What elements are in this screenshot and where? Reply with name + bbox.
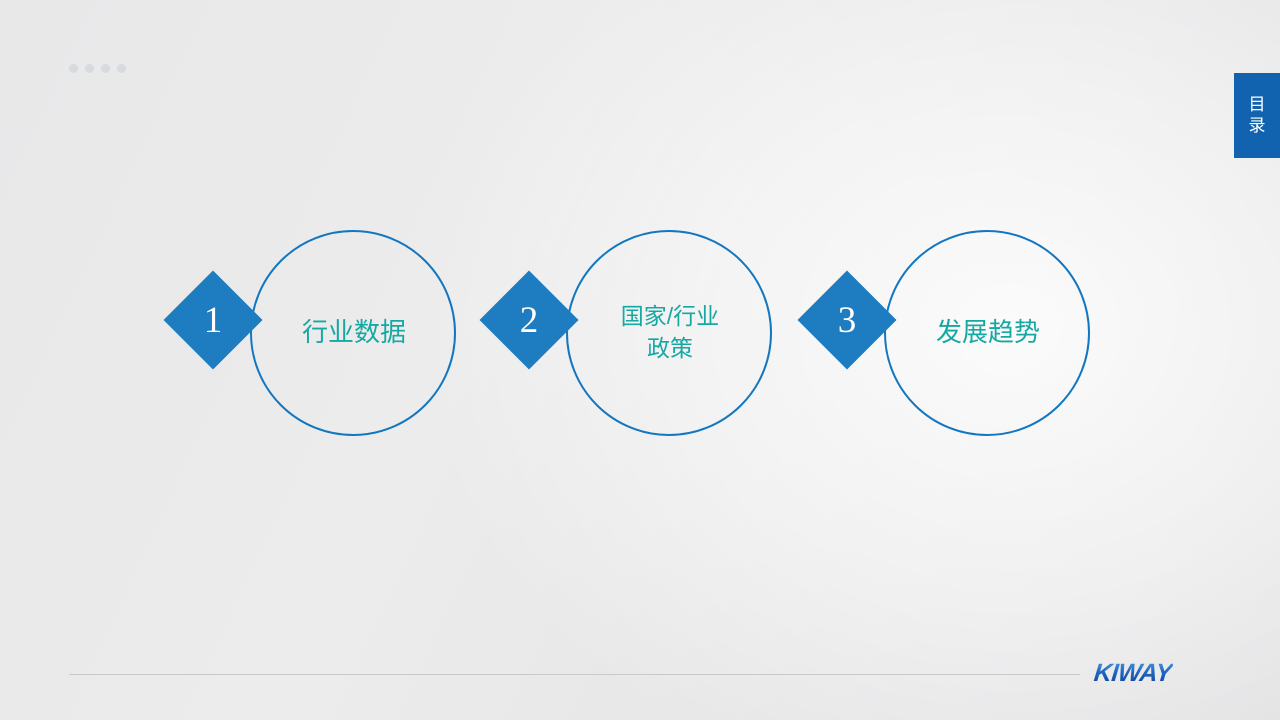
toc-number-3: 3 [812,285,882,355]
toc-item-1[interactable]: 1 行业数据 [178,230,468,442]
footer-divider [69,674,1080,675]
toc-item-2[interactable]: 2 国家/行业 政策 [494,230,784,442]
toc-item-3[interactable]: 3 发展趋势 [812,230,1102,442]
slide-canvas: 目 录 1 行业数据 2 国家/行业 政策 3 发展趋势 KIWAY [0,0,1280,720]
toc-label-3: 发展趋势 [898,230,1078,436]
toc-number-2: 2 [494,285,564,355]
toc-label-1: 行业数据 [264,230,444,436]
toc-number-1: 1 [178,285,248,355]
kiway-logo-text: KIWAY [1092,659,1173,688]
kiway-logo: KIWAY [1094,660,1172,686]
toc-row: 1 行业数据 2 国家/行业 政策 3 发展趋势 [0,0,1280,720]
toc-label-2: 国家/行业 政策 [580,230,760,436]
